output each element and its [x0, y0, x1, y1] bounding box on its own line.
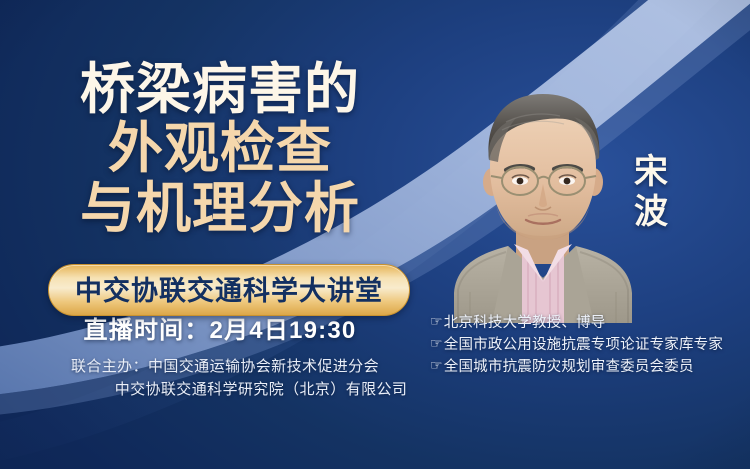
pointing-hand-icon: ☞ — [430, 334, 443, 355]
pointing-hand-icon: ☞ — [430, 312, 443, 333]
organizers: 联合主办：中国交通运输协会新技术促进分会 中交协联交通科学研究院（北京）有限公司 — [0, 355, 450, 402]
organizer-line-1: 联合主办：中国交通运输协会新技术促进分会 — [0, 355, 450, 378]
poster-title: 桥梁病害的 外观检查 与机理分析 — [0, 60, 440, 238]
series-badge-label: 中交协联交通科学大讲堂 — [75, 276, 383, 306]
credential-item: ☞ 北京科技大学教授、博导 — [430, 312, 723, 334]
credential-text: 全国市政公用设施抗震专项论证专家库专家 — [444, 334, 723, 356]
speaker-name-char-1: 宋 — [628, 152, 674, 192]
webinar-poster: 桥梁病害的 外观检查 与机理分析 中交协联交通科学大讲堂 直播时间：2月4日19… — [0, 0, 750, 469]
title-line-3: 与机理分析 — [0, 179, 440, 238]
series-badge-pill: 中交协联交通科学大讲堂 — [48, 264, 410, 316]
credential-text: 全国城市抗震防灾规划审查委员会委员 — [444, 356, 694, 378]
title-line-2: 外观检查 — [0, 119, 440, 178]
speaker-credentials: ☞ 北京科技大学教授、博导 ☞ 全国市政公用设施抗震专项论证专家库专家 ☞ 全国… — [430, 312, 723, 378]
title-line-1: 桥梁病害的 — [0, 60, 440, 119]
left-content-column: 桥梁病害的 外观检查 与机理分析 中交协联交通科学大讲堂 直播时间：2月4日19… — [0, 0, 470, 469]
speaker-name: 宋 波 — [628, 152, 674, 232]
pointing-hand-icon: ☞ — [430, 356, 443, 377]
speaker-name-char-2: 波 — [628, 192, 674, 232]
credential-text: 北京科技大学教授、博导 — [444, 312, 606, 334]
credential-item: ☞ 全国市政公用设施抗震专项论证专家库专家 — [430, 334, 723, 356]
organizer-line-2: 中交协联交通科学研究院（北京）有限公司 — [0, 378, 450, 401]
credential-item: ☞ 全国城市抗震防灾规划审查委员会委员 — [430, 356, 723, 378]
series-badge: 中交协联交通科学大讲堂 — [48, 264, 410, 316]
